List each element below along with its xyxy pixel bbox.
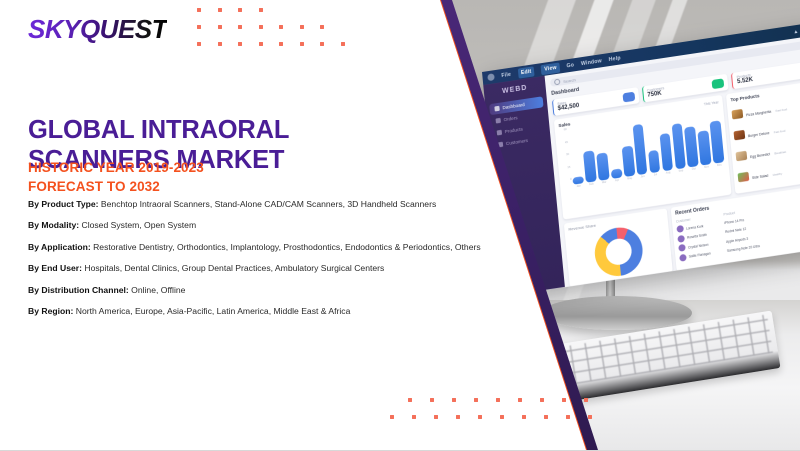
dot (456, 415, 460, 419)
dot (518, 398, 522, 402)
dot (259, 8, 263, 12)
dot (496, 398, 500, 402)
x-tick-label: Oct (688, 167, 699, 172)
x-tick-label: Mar (599, 180, 610, 185)
product-thumbnail (733, 129, 745, 140)
apple-menu-icon[interactable] (487, 73, 495, 81)
decorative-dot-grid-top (197, 8, 345, 59)
segment-value: North America, Europe, Asia-Pacific, Lat… (76, 306, 351, 316)
dot (300, 42, 304, 46)
segment-label: By End User: (28, 263, 82, 273)
customer-name: Rosetta Smith (687, 233, 707, 240)
menu-item-edit[interactable]: Edit (518, 66, 535, 78)
segment-value: Online, Offline (131, 285, 185, 295)
dot-row (197, 8, 345, 12)
avatar (679, 253, 687, 261)
product-name: Egg Benedict (750, 152, 770, 159)
segment-label: By Product Type: (28, 199, 99, 209)
dot (218, 42, 222, 46)
segment-value: Closed System, Open System (81, 220, 196, 230)
y-tick-label: 15 (562, 164, 570, 169)
x-tick-label: Jun (637, 175, 648, 180)
dot (197, 42, 201, 46)
dot (588, 415, 592, 419)
menu-item-window[interactable]: Window (581, 58, 602, 67)
dot (540, 398, 544, 402)
dot-row (390, 415, 592, 419)
product-category: Fast food (775, 107, 787, 113)
dot (452, 398, 456, 402)
wifi-icon[interactable]: ▲ (793, 28, 798, 35)
bar[interactable] (621, 146, 634, 177)
segment-list: By Product Type: Benchtop Intraoral Scan… (28, 198, 496, 327)
cart-icon (496, 118, 501, 124)
segment-end-user: By End User: Hospitals, Dental Clinics, … (28, 262, 496, 274)
avatar (676, 225, 684, 233)
x-tick-label: Jan (573, 184, 584, 189)
bar[interactable] (710, 120, 725, 164)
y-tick-label: 60 (559, 127, 567, 132)
sidebar-item-label: Dashboard (502, 102, 525, 110)
sidebar-item-label: Orders (503, 115, 517, 122)
bar[interactable] (648, 150, 661, 173)
dot (259, 25, 263, 29)
donut-chart (593, 224, 645, 279)
product-name: Burger Deluxe (748, 131, 770, 138)
product-category: Breakfast (774, 150, 786, 156)
dashboard-main: Search Dashboard Sales $42,500 (545, 35, 800, 287)
segment-value: Benchtop Intraoral Scanners, Stand-Alone… (101, 199, 436, 209)
bar[interactable] (698, 130, 712, 166)
dot (197, 8, 201, 12)
dashboard-brand: WEBD (484, 82, 546, 98)
users-icon (712, 78, 725, 89)
dot (218, 8, 222, 12)
dot (584, 398, 588, 402)
bar[interactable] (659, 133, 673, 171)
product-thumbnail (738, 171, 750, 182)
dot (544, 415, 548, 419)
dot (320, 42, 324, 46)
dot (279, 25, 283, 29)
segment-label: By Distribution Channel: (28, 285, 129, 295)
sidebar-item-label: Customers (506, 138, 528, 146)
box-icon (497, 130, 502, 136)
monitor-stand-base (542, 296, 692, 330)
x-tick-label: Aug (663, 171, 674, 176)
chart-icon (622, 91, 635, 102)
avatar (677, 234, 685, 242)
bar[interactable] (684, 127, 698, 168)
text-content: SKYQUEST (0, 0, 430, 450)
x-tick-label: Sep (676, 169, 687, 174)
x-tick-label: May (624, 177, 635, 182)
x-tick-label: Nov (701, 165, 712, 170)
menu-item-help[interactable]: Help (608, 55, 620, 63)
stat-value: 750K (647, 90, 665, 99)
dot (300, 25, 304, 29)
dot-row (408, 398, 592, 402)
bar[interactable] (611, 168, 622, 179)
product-name: Apple Airpods 3 (726, 236, 748, 243)
sidebar-item-label: Products (505, 127, 523, 135)
dot (341, 42, 345, 46)
bar[interactable] (583, 151, 597, 183)
product-name: iPhone 14 Pro (724, 217, 744, 224)
skyquest-logo[interactable]: SKYQUEST (28, 14, 167, 45)
dot (434, 415, 438, 419)
product-name: Pizza Margherita (746, 110, 772, 118)
product-name: Redmi Note 12 (725, 227, 746, 234)
segment-distribution-channel: By Distribution Channel: Online, Offline (28, 284, 496, 296)
segment-application: By Application: Restorative Dentistry, O… (28, 241, 496, 253)
dot (218, 25, 222, 29)
dot (408, 398, 412, 402)
menu-item-file[interactable]: File (501, 71, 511, 78)
product-category: Fast food (774, 129, 786, 135)
dot (500, 415, 504, 419)
decorative-dot-grid-bottom (408, 398, 592, 432)
stat-value: 5.52K (737, 77, 753, 85)
bar-chart-plot: 604530150 JanFebMarAprMayJunJulAugSepOct… (559, 104, 725, 190)
dot-row (197, 42, 345, 46)
dot (566, 415, 570, 419)
segment-region: By Region: North America, Europe, Asia-P… (28, 305, 496, 317)
avatar (678, 244, 686, 252)
product-thumbnail (735, 150, 747, 161)
bar[interactable] (596, 152, 609, 181)
grid-icon (494, 106, 499, 112)
segment-label: By Modality: (28, 220, 79, 230)
segment-value: Hospitals, Dental Clinics, Group Dental … (84, 263, 384, 273)
column-header-product: Product (723, 211, 735, 217)
segment-label: By Region: (28, 306, 73, 316)
dot (390, 415, 394, 419)
dot (412, 415, 416, 419)
y-tick-label: 0 (563, 177, 571, 182)
dot (474, 398, 478, 402)
menubar-status: ▲ 100% (793, 26, 800, 35)
customer-name: Crystal Nelson (688, 242, 709, 249)
product-category: Healthy (773, 172, 783, 177)
historic-year-line: HISTORIC YEAR 2019-2023 (28, 158, 204, 177)
search-placeholder: Search (563, 77, 576, 84)
dot (197, 25, 201, 29)
dot (478, 415, 482, 419)
dot (259, 42, 263, 46)
top-products-card: Top Products Pizza Margherita Fast food (726, 80, 800, 194)
product-thumbnail (731, 108, 743, 119)
marketing-poster: File Edit View Go Window Help ▲ 100% WEB… (0, 0, 800, 451)
dot-row (197, 25, 345, 29)
dot (238, 25, 242, 29)
x-tick-label: Feb (586, 182, 597, 187)
segment-value: Restorative Dentistry, Orthodontics, Imp… (93, 242, 481, 252)
menu-item-go[interactable]: Go (566, 62, 574, 69)
customer-name: Sallie Flanagan (689, 251, 711, 258)
x-tick-label: Dec (714, 163, 725, 168)
segment-product-type: By Product Type: Benchtop Intraoral Scan… (28, 198, 496, 210)
segment-modality: By Modality: Closed System, Open System (28, 219, 496, 231)
y-tick-label: 30 (561, 152, 569, 157)
customer-name: Lorena Kurk (686, 223, 704, 230)
x-tick-label: Apr (612, 178, 623, 183)
forecast-line: FORECAST TO 2032 (28, 177, 204, 196)
dot (562, 398, 566, 402)
search-icon (554, 79, 561, 86)
period-subtitle: HISTORIC YEAR 2019-2023 FORECAST TO 2032 (28, 158, 204, 196)
dot (320, 25, 324, 29)
dot (430, 398, 434, 402)
dot (238, 42, 242, 46)
dot (279, 42, 283, 46)
sales-bar-chart-card: Sales This Year 604530150 JanFebMarAprMa… (554, 95, 732, 220)
x-tick-label: Jul (650, 173, 661, 178)
dot (522, 415, 526, 419)
product-name: Side Salad (752, 174, 769, 180)
segment-label: By Application: (28, 242, 91, 252)
product-name: Samsung Note 20 Ultra (727, 244, 760, 253)
dot (238, 8, 242, 12)
y-tick-label: 45 (560, 140, 568, 145)
